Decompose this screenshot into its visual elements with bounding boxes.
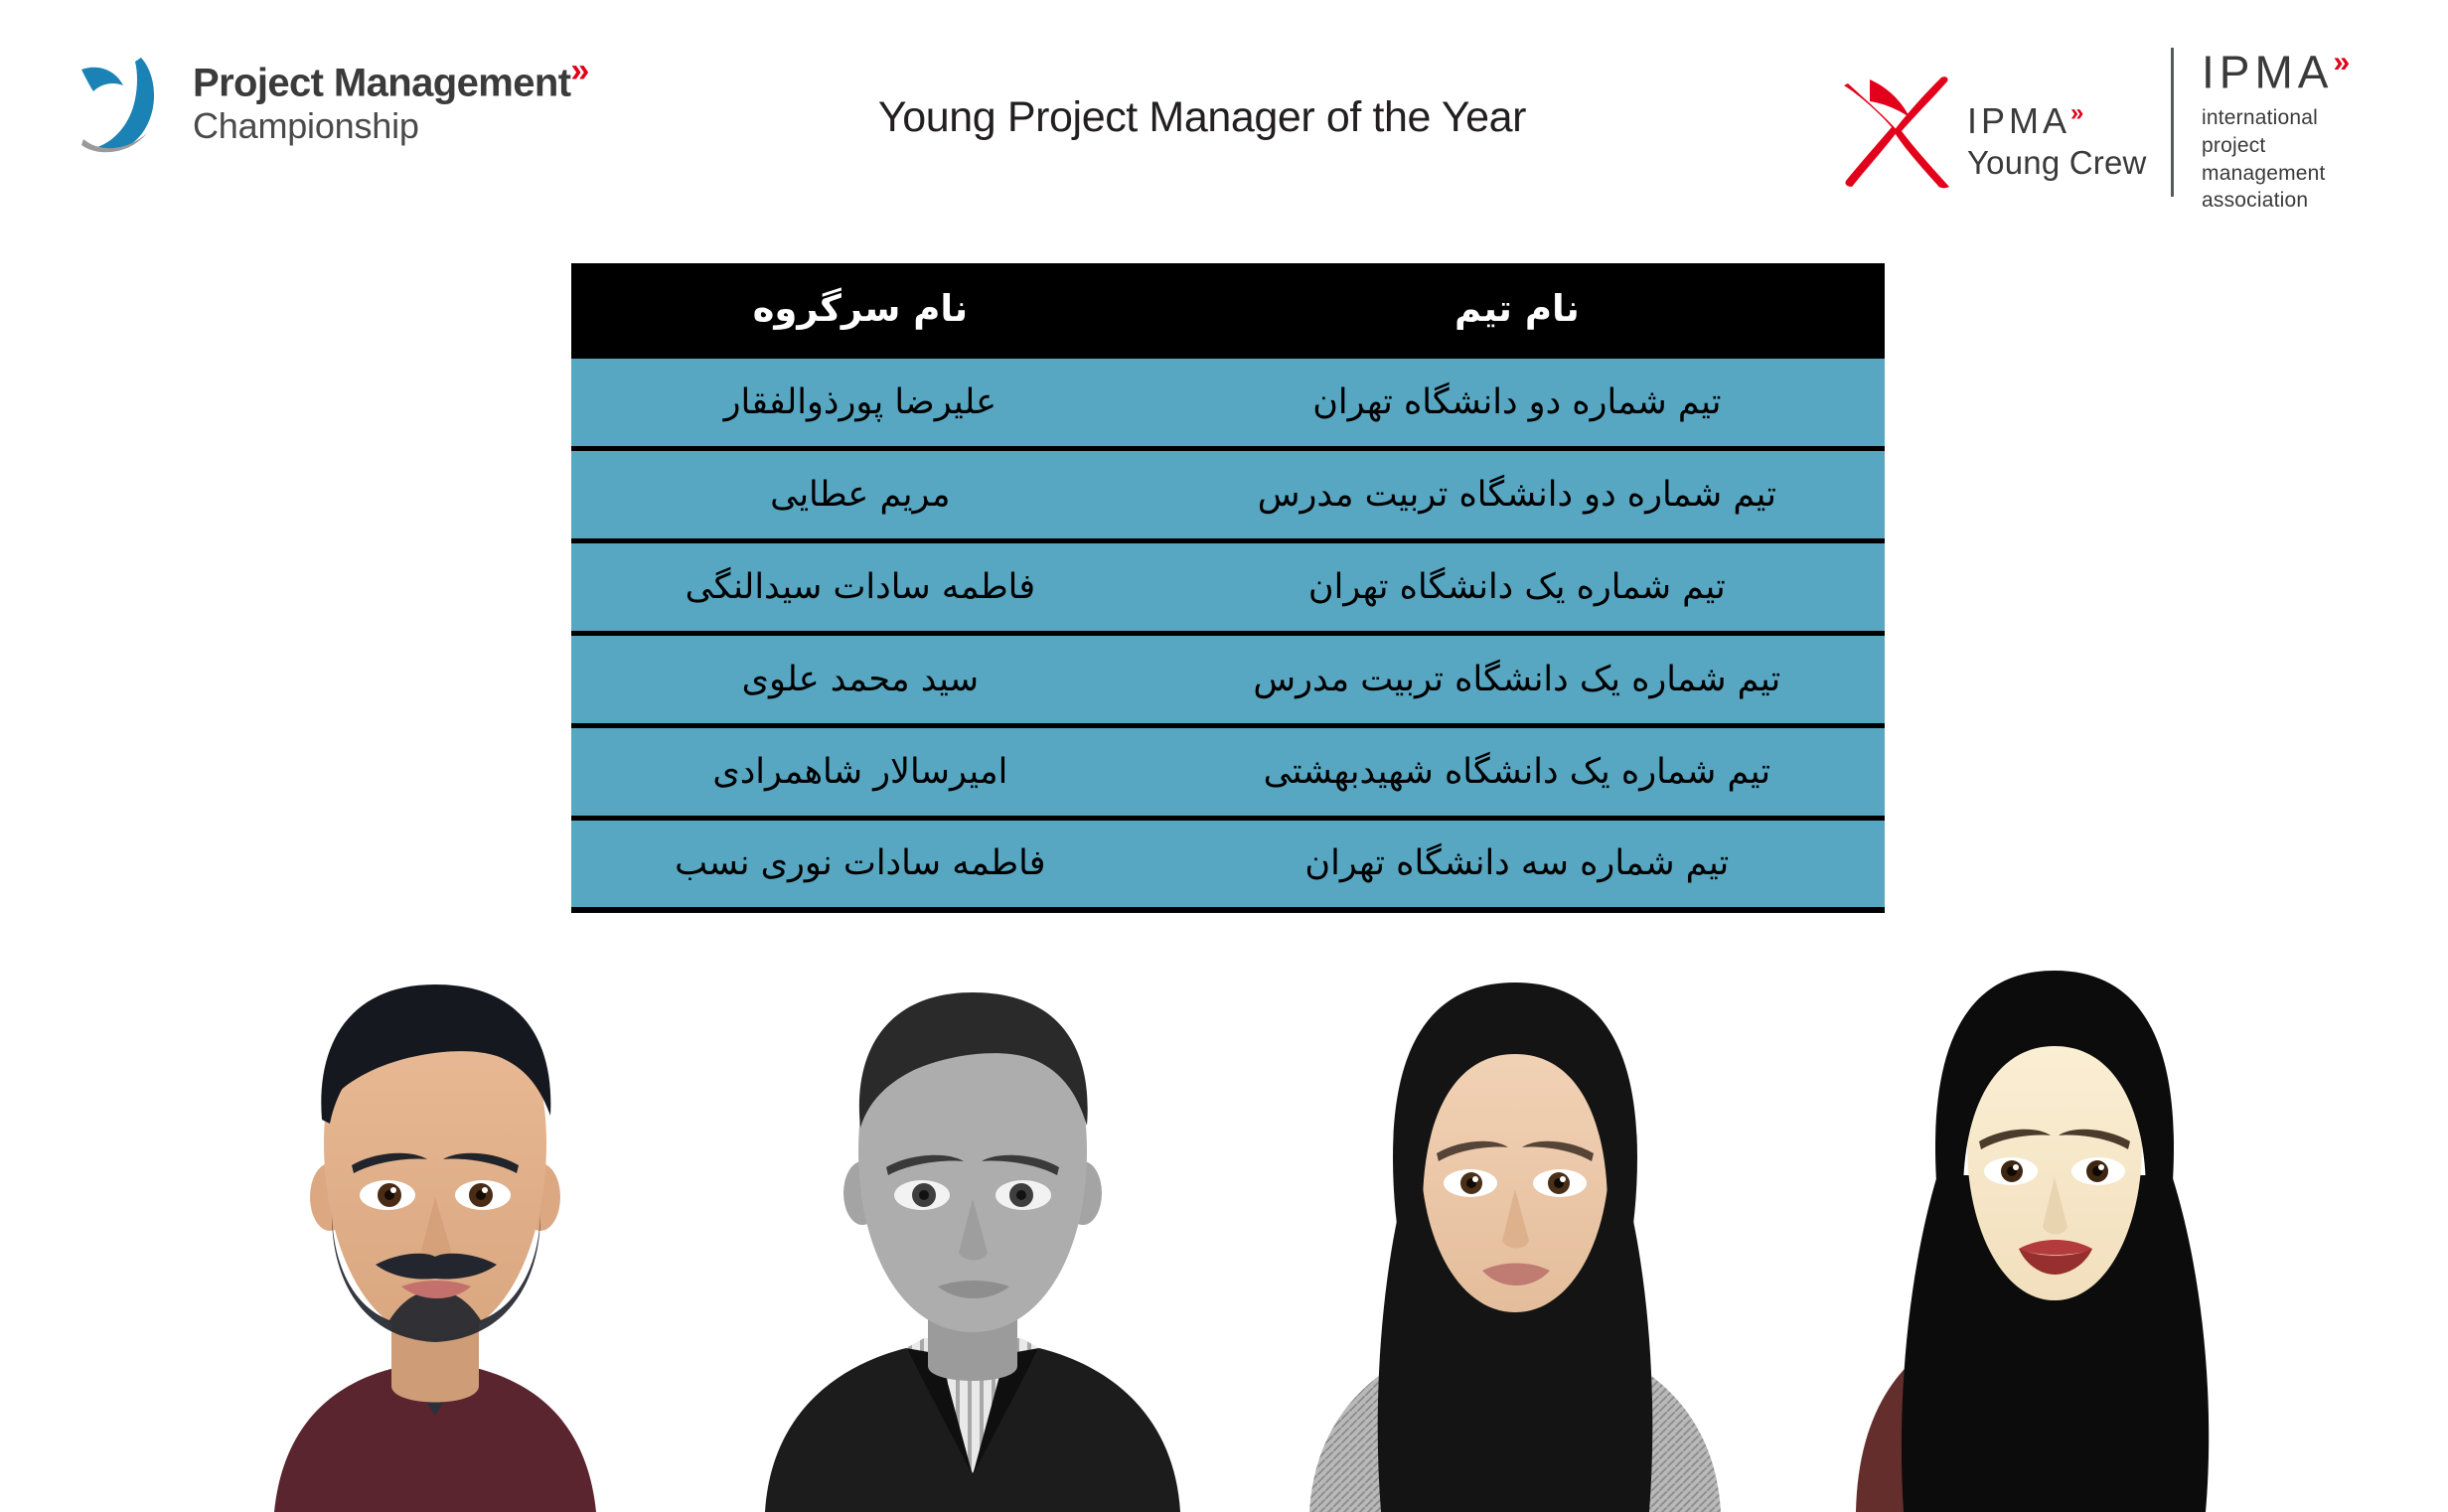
cell-team-name: تیم شماره یک دانشگاه شهیدبهشتی (1149, 725, 1885, 818)
pmc-logo-line2: Championship (193, 106, 620, 146)
column-header-team: نام تیم (1149, 263, 1885, 356)
teams-table: نام تیم نام سرگروه تیم شماره دو دانشگاه … (571, 263, 1885, 913)
table-header-row: نام تیم نام سرگروه (571, 263, 1885, 356)
cell-team-name: تیم شماره دو دانشگاه تربیت مدرس (1149, 448, 1885, 540)
ipma-young-crew-chevron-icon: » (2070, 99, 2080, 126)
ipma-assoc-line-management: management (2202, 160, 2419, 188)
pmc-logo-line1: Project Management» (193, 54, 620, 103)
cell-leader-name: مریم عطایی (571, 448, 1149, 540)
pmc-logo: Project Management» Championship (64, 48, 620, 167)
cell-leader-name: سید محمد علوی (571, 633, 1149, 725)
ipma-assoc-line-association: association (2202, 187, 2419, 215)
pmc-chevron-icon: » (570, 52, 585, 89)
page-title: Young Project Manager of the Year (844, 93, 1560, 142)
ipma-association-subtext: international project management associa… (2202, 104, 2419, 215)
pmc-wordmark: Project Management» Championship (193, 54, 620, 147)
ipma-young-crew-ipma-text: IPMA» (1967, 101, 2166, 139)
ipma-association-chevron-icon: » (2333, 46, 2346, 78)
table-row: تیم شماره سه دانشگاه تهرانفاطمه سادات نو… (571, 818, 1885, 910)
table-row: تیم شماره یک دانشگاه شهیدبهشتیامیرسالار … (571, 725, 1885, 818)
ipma-young-crew-logo: IPMA» Young Crew (1840, 60, 2168, 199)
ipma-association-logo: IPMA» international project management a… (2171, 48, 2419, 197)
ipma-assoc-line-international: international (2202, 104, 2419, 132)
portrait-gallery (0, 949, 2448, 1512)
table-row: تیم شماره یک دانشگاه تهرانفاطمه سادات سی… (571, 540, 1885, 633)
teams-table-body: تیم شماره دو دانشگاه تهرانعلیرضا پورذوال… (571, 356, 1885, 910)
table-row: تیم شماره دو دانشگاه تهرانعلیرضا پورذوال… (571, 356, 1885, 448)
ipma-young-crew-subtext: Young Crew (1967, 145, 2166, 181)
ipma-association-ipma-text: IPMA» (2202, 48, 2419, 94)
young-crew-figure-icon (1840, 70, 1957, 191)
table-row: تیم شماره یک دانشگاه تربیت مدرسسید محمد … (571, 633, 1885, 725)
ipma-assoc-line-project: project (2202, 132, 2419, 160)
portrait-4 (1856, 951, 2253, 1512)
portrait-3 (1309, 959, 1721, 1512)
cell-team-name: تیم شماره سه دانشگاه تهران (1149, 818, 1885, 910)
portrait-2 (765, 977, 1180, 1512)
cell-leader-name: فاطمه سادات سیدالنگی (571, 540, 1149, 633)
ipma-young-crew-wordmark: IPMA» Young Crew (1967, 101, 2166, 181)
portrait-1 (227, 949, 644, 1512)
table-row: تیم شماره دو دانشگاه تربیت مدرسمریم عطای… (571, 448, 1885, 540)
cell-team-name: تیم شماره یک دانشگاه تربیت مدرس (1149, 633, 1885, 725)
teams-table-head: نام تیم نام سرگروه (571, 263, 1885, 356)
cell-team-name: تیم شماره یک دانشگاه تهران (1149, 540, 1885, 633)
cell-team-name: تیم شماره دو دانشگاه تهران (1149, 356, 1885, 448)
pmc-swoosh-icon (64, 48, 175, 159)
cell-leader-name: امیرسالار شاهمرادی (571, 725, 1149, 818)
page-header: Project Management» Championship Young P… (0, 0, 2448, 248)
cell-leader-name: علیرضا پورذوالفقار (571, 356, 1149, 448)
cell-leader-name: فاطمه سادات نوری نسب (571, 818, 1149, 910)
column-header-leader: نام سرگروه (571, 263, 1149, 356)
